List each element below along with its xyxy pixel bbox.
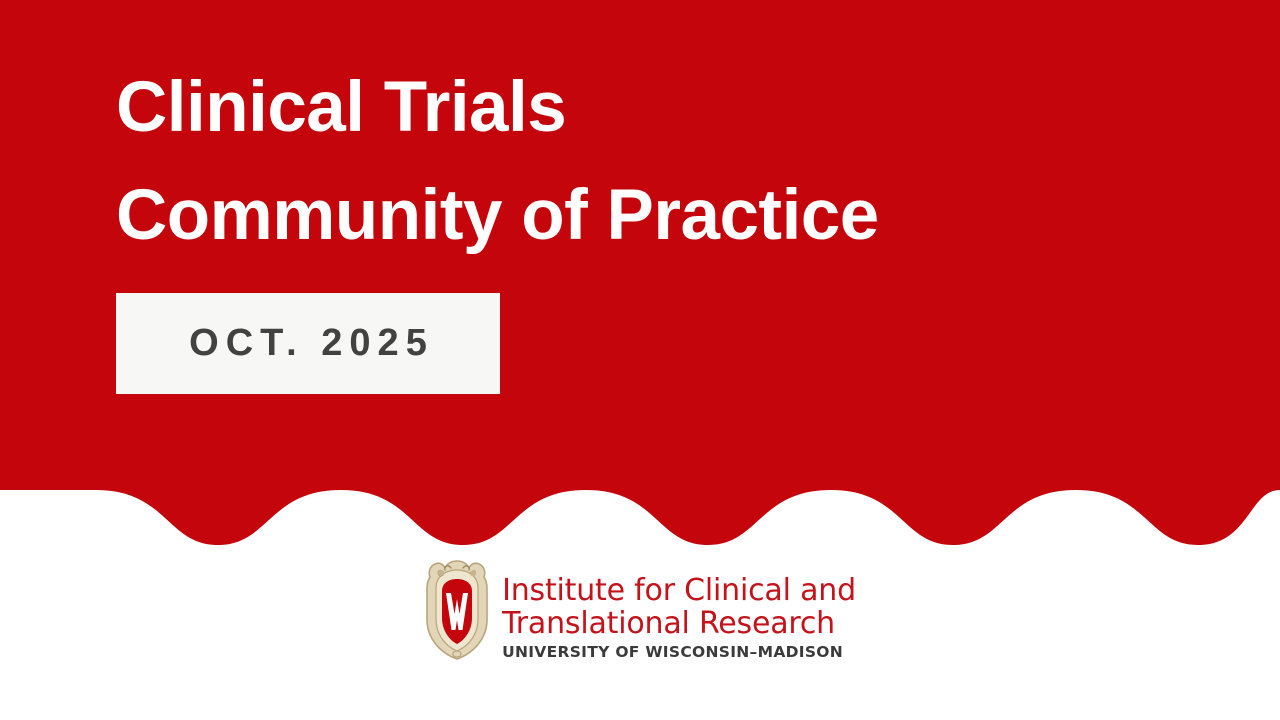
institute-name-line-1: Institute for Clinical and	[502, 574, 856, 607]
institute-logo: Institute for Clinical and Translational…	[0, 558, 1280, 663]
institute-name-line-2: Translational Research	[502, 607, 856, 640]
page-title: Clinical Trials Community of Practice	[116, 54, 1166, 270]
slide-canvas: Clinical Trials Community of Practice OC…	[0, 0, 1280, 720]
institute-logo-text: Institute for Clinical and Translational…	[502, 558, 856, 663]
title-line-2: Community of Practice	[116, 162, 1166, 270]
date-badge: OCT. 2025	[116, 293, 500, 394]
uw-madison-crest-w-icon	[424, 558, 490, 662]
date-badge-label: OCT. 2025	[182, 322, 434, 365]
university-name: UNIVERSITY OF WISCONSIN–MADISON	[502, 641, 856, 663]
title-line-1: Clinical Trials	[116, 54, 1166, 162]
